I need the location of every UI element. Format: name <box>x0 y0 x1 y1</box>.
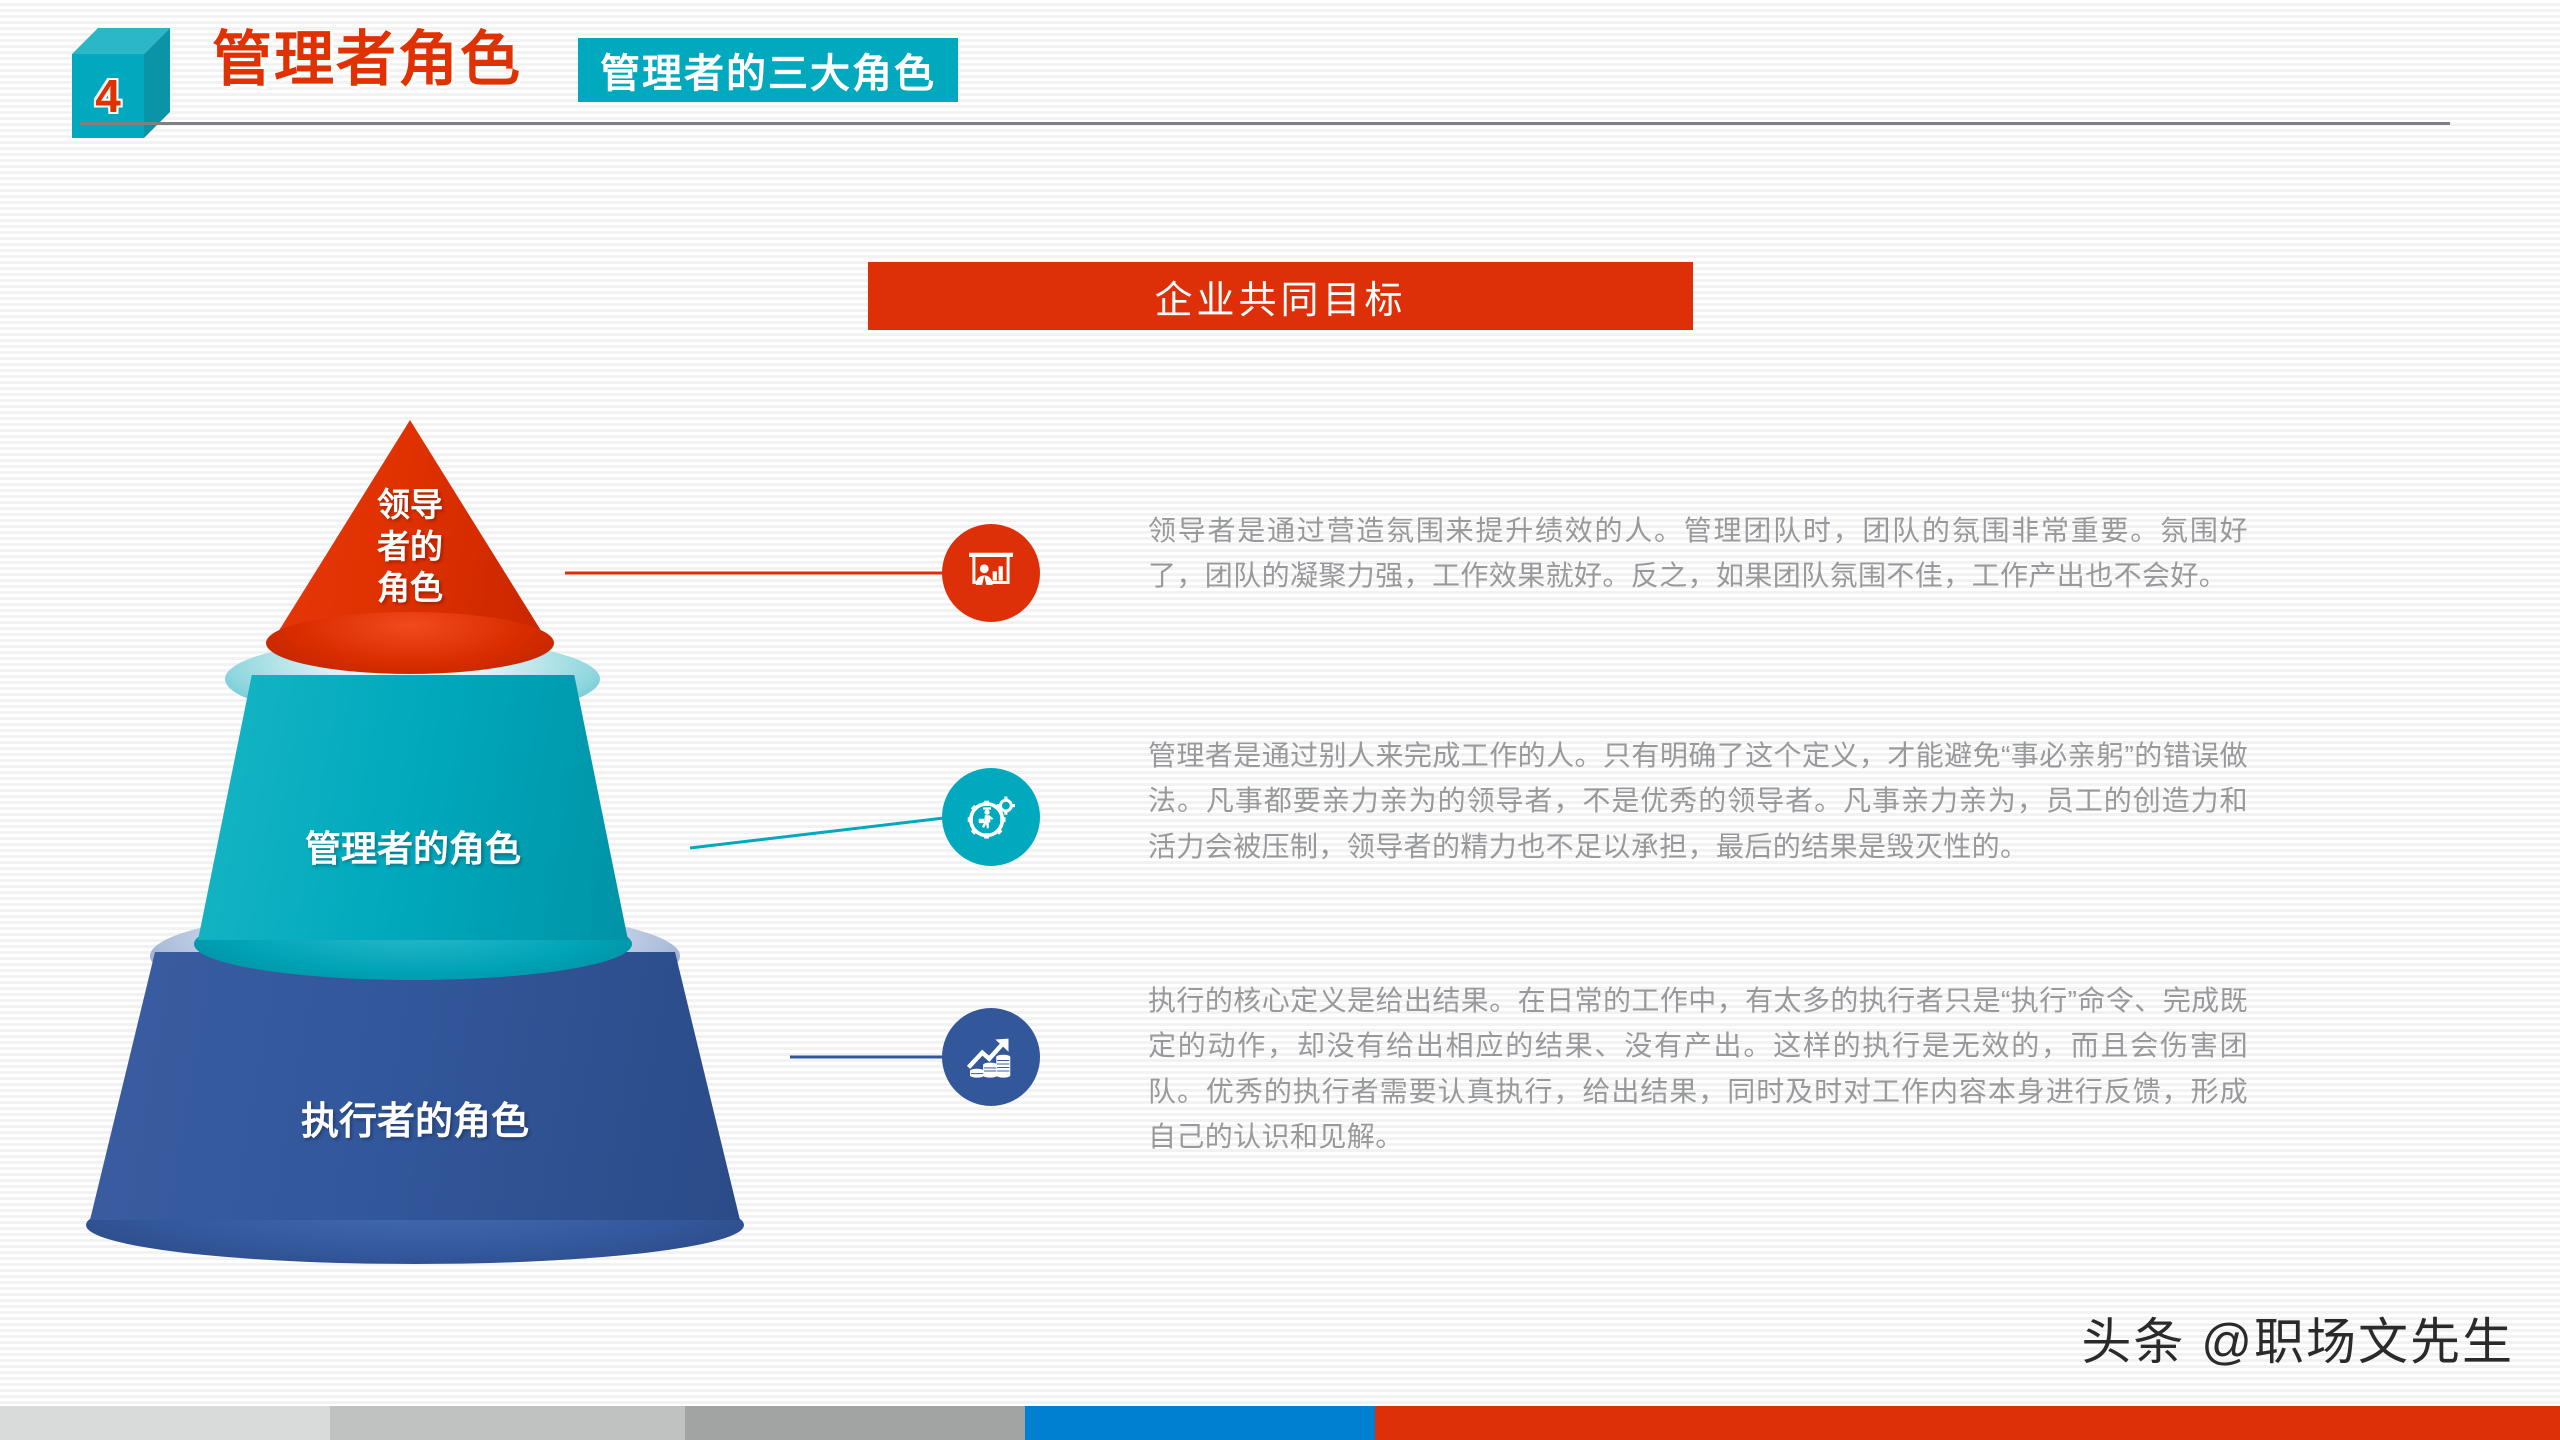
footer-segment-5 <box>1375 1406 2560 1440</box>
description-executor: 执行的核心定义是给出结果。在日常的工作中，有太多的执行者只是“执行”命令、完成既… <box>1148 978 2248 1159</box>
footer-segment-4 <box>1025 1406 1375 1440</box>
pyramid-diagram: 执行者的角色 管理者的角色 领导 者的 角色 <box>90 400 750 1200</box>
description-leader: 领导者是通过营造氛围来提升绩效的人。管理团队时，团队的氛围非常重要。氛围好了，团… <box>1148 508 2248 599</box>
page-title: 管理者角色 <box>212 30 522 90</box>
footer-segment-3 <box>685 1406 1025 1440</box>
pyramid-tier-manager[interactable] <box>198 675 628 940</box>
description-manager: 管理者是通过别人来完成工作的人。只有明确了这个定义，才能避免“事必亲躬”的错误做… <box>1148 733 2248 869</box>
section-number: 4 <box>72 54 144 138</box>
pyramid-top-base-ellipse <box>266 612 554 674</box>
goal-banner: 企业共同目标 <box>868 262 1693 330</box>
footer-segment-2 <box>330 1406 685 1440</box>
header-subtitle-badge: 管理者的三大角色 <box>578 38 958 102</box>
growth-arrow-coins-glyph <box>963 1029 1019 1085</box>
growth-arrow-coins-icon[interactable] <box>942 1008 1040 1106</box>
presentation-chart-person-icon[interactable] <box>942 524 1040 622</box>
gear-businessman-glyph <box>963 789 1019 845</box>
pyramid-tier-executor[interactable] <box>90 952 740 1220</box>
footer-segment-1 <box>0 1406 330 1440</box>
slide-header: 4 管理者角色 管理者的三大角色 <box>0 0 2560 150</box>
gear-businessman-icon[interactable] <box>942 768 1040 866</box>
header-divider <box>80 122 2450 125</box>
presentation-chart-person-glyph <box>964 546 1018 600</box>
watermark: 头条 @职场文先生 <box>2081 1302 2514 1374</box>
footer-color-bar <box>0 1406 2560 1440</box>
slide-canvas: 4 管理者角色 管理者的三大角色 企业共同目标 执行者的角色 管理者的角色 领导… <box>0 0 2560 1440</box>
